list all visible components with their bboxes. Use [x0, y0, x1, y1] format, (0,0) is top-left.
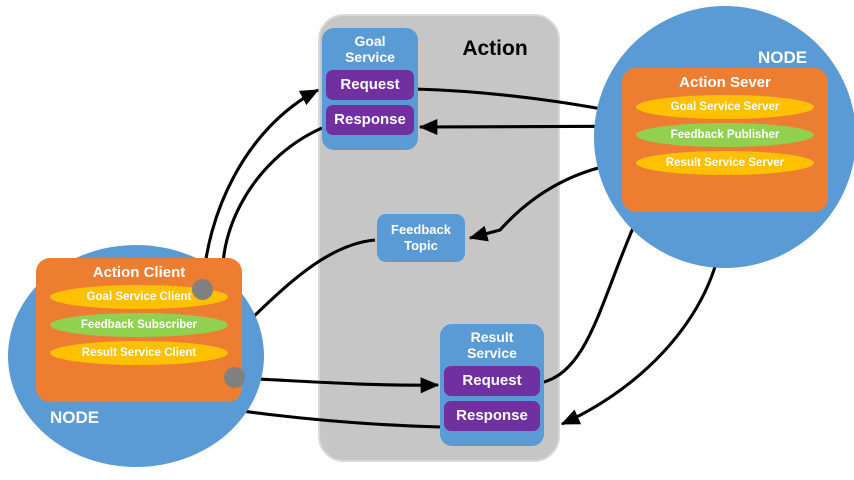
arrow-result-client-to-request: [238, 378, 438, 385]
client-node-label: NODE: [50, 408, 99, 428]
feedback-topic-box[interactable]: Feedback Topic: [377, 214, 465, 262]
result-service-title: Result Service: [440, 324, 544, 361]
feedback-subscriber[interactable]: Feedback Subscriber: [50, 313, 228, 337]
result-service-title-line1: Result: [471, 329, 514, 345]
result-service-response[interactable]: Response: [444, 401, 540, 431]
feedback-topic-line2: Topic: [404, 238, 438, 253]
result-service-box: Result Service Request Response: [440, 324, 544, 446]
goal-service-title-line2: Service: [345, 49, 395, 65]
action-client-title: Action Client: [36, 258, 242, 281]
result-service-client[interactable]: Result Service Client: [50, 341, 228, 365]
result-service-request[interactable]: Request: [444, 366, 540, 396]
diagram-canvas: Action: [0, 0, 854, 480]
goal-service-request[interactable]: Request: [326, 70, 414, 100]
result-service-client-connector-dot: [224, 367, 245, 388]
action-server-title: Action Sever: [622, 68, 828, 91]
goal-service-title-line1: Goal: [354, 33, 385, 49]
goal-service-server[interactable]: Goal Service Server: [636, 95, 814, 119]
feedback-publisher[interactable]: Feedback Publisher: [636, 123, 814, 147]
server-node-label: NODE: [758, 48, 807, 68]
action-server-panel: Action Sever Goal Service Server Feedbac…: [622, 68, 828, 212]
goal-service-client-connector-dot: [192, 279, 213, 300]
action-client-panel: Action Client Goal Service Client Feedba…: [36, 258, 242, 402]
goal-service-box: Goal Service Request Response: [322, 28, 418, 150]
result-service-title-line2: Service: [467, 345, 517, 361]
feedback-topic-line1: Feedback: [391, 222, 451, 237]
result-service-server[interactable]: Result Service Server: [636, 151, 814, 175]
goal-service-response[interactable]: Response: [326, 105, 414, 135]
goal-service-title: Goal Service: [322, 28, 418, 65]
